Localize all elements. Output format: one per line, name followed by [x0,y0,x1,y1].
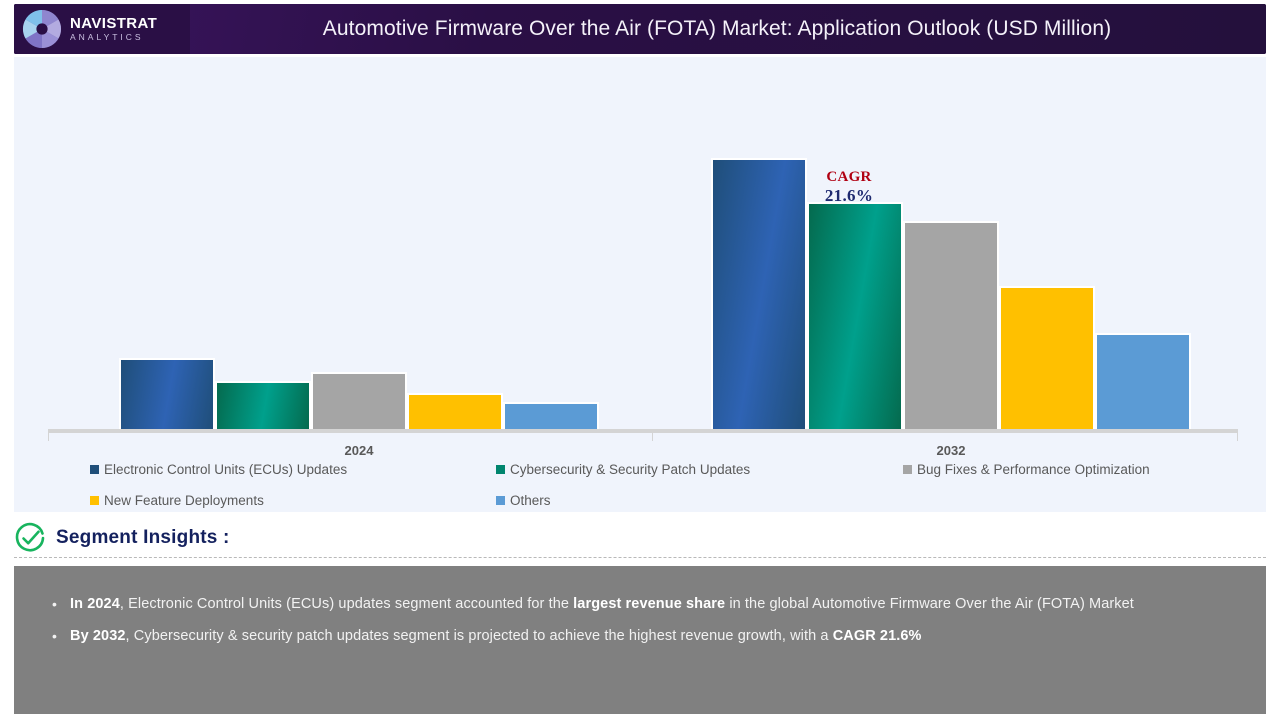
segment-insights-body: In 2024, Electronic Control Units (ECUs)… [14,566,1266,714]
bar-2032-series-1 [807,202,903,429]
legend-swatch-2 [903,465,912,474]
legend-label-0: Electronic Control Units (ECUs) Updates [104,462,347,477]
brand-tagline: ANALYTICS [70,33,157,42]
insights-list: In 2024, Electronic Control Units (ECUs)… [40,588,1240,652]
legend-swatch-4 [496,496,505,505]
segment-insights-header: Segment Insights : [14,518,1266,558]
x-axis-label-2032: 2032 [891,443,1011,458]
brand-logo: NAVISTRAT ANALYTICS [14,4,190,54]
legend-item-1[interactable]: Cybersecurity & Security Patch Updates [496,462,750,477]
segment-insights-title: Segment Insights : [56,527,230,549]
plot-area [14,57,1266,432]
legend-item-0[interactable]: Electronic Control Units (ECUs) Updates [90,462,347,477]
bar-2024-series-0 [119,358,215,429]
chart-panel: 20242032 CAGR 21.6% Electronic Control U… [14,57,1266,512]
cagr-annotation: CAGR 21.6% [809,169,889,205]
navistrat-wheel-icon [22,9,62,49]
x-axis-label-2024: 2024 [299,443,419,458]
page-title: Automotive Firmware Over the Air (FOTA) … [190,17,1266,41]
bar-2032-series-2 [903,221,999,429]
bar-2024-series-1 [215,381,311,429]
legend-item-4[interactable]: Others [496,493,551,508]
slide-header: NAVISTRAT ANALYTICS Automotive Firmware … [14,4,1266,54]
insight-bullet-0: In 2024, Electronic Control Units (ECUs)… [40,588,1240,620]
brand-text: NAVISTRAT ANALYTICS [70,16,157,42]
axis-tick-0 [48,433,49,441]
legend-label-2: Bug Fixes & Performance Optimization [917,462,1150,477]
axis-tick-2 [1237,433,1238,441]
legend-swatch-1 [496,465,505,474]
x-axis-line [48,429,1238,433]
bar-2024-series-3 [407,393,503,429]
chart-slide: NAVISTRAT ANALYTICS Automotive Firmware … [0,0,1280,720]
legend-label-3: New Feature Deployments [104,493,264,508]
cagr-value: 21.6% [809,186,889,205]
brand-name: NAVISTRAT [70,16,157,31]
legend-item-2[interactable]: Bug Fixes & Performance Optimization [903,462,1150,477]
legend-label-4: Others [510,493,551,508]
bar-2032-series-3 [999,286,1095,429]
legend-swatch-3 [90,496,99,505]
bar-2024-series-2 [311,372,407,429]
legend-item-3[interactable]: New Feature Deployments [90,493,264,508]
bar-2032-series-0 [711,158,807,429]
legend-label-1: Cybersecurity & Security Patch Updates [510,462,750,477]
bar-2024-series-4 [503,402,599,429]
legend-swatch-0 [90,465,99,474]
cagr-label: CAGR [809,169,889,186]
check-circle-icon [14,522,46,554]
bar-2032-series-4 [1095,333,1191,429]
chart-legend: Electronic Control Units (ECUs) UpdatesC… [14,462,1266,512]
insight-bullet-1: By 2032, Cybersecurity & security patch … [40,620,1240,652]
axis-tick-1 [652,433,653,441]
